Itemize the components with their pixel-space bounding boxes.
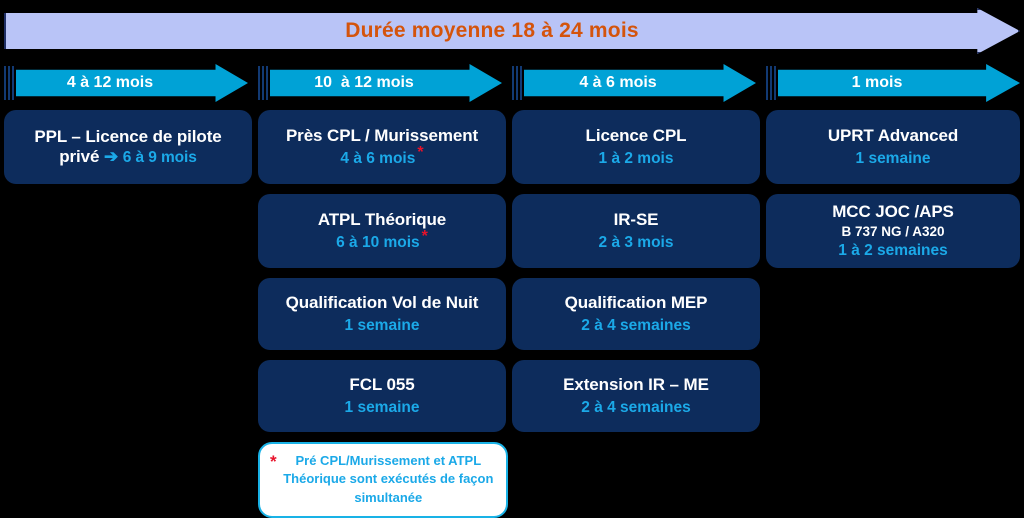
stage-column-3: Licence CPL 1 à 2 mois IR-SE 2 à 3 mois … <box>512 110 760 442</box>
course-title: Extension IR – ME <box>563 375 709 395</box>
course-title-line2: privé ➔ 6 à 9 mois <box>59 147 197 168</box>
course-title-line2-text: privé <box>59 147 99 166</box>
course-title: Qualification MEP <box>565 293 708 313</box>
course-title: Licence CPL <box>586 126 687 146</box>
course-duration-row: 4 à 6 mois* <box>340 150 423 169</box>
course-card-ir-se[interactable]: IR-SE 2 à 3 mois <box>512 194 760 268</box>
phase-label-1: 4 à 12 mois <box>16 64 204 102</box>
course-card-fcl-055[interactable]: FCL 055 1 semaine <box>258 360 506 432</box>
phase-arrow-4: 1 mois <box>766 64 1020 102</box>
phase-label-2: 10 à 12 mois <box>270 64 458 102</box>
course-duration: 6 à 10 mois <box>336 234 420 251</box>
course-card-vol-de-nuit[interactable]: Qualification Vol de Nuit 1 semaine <box>258 278 506 350</box>
stage-column-1: PPL – Licence de pilote privé ➔ 6 à 9 mo… <box>4 110 252 194</box>
course-duration-row: 6 à 10 mois* <box>336 234 428 253</box>
phase-tick-marks-icon <box>766 66 777 100</box>
footnote-asterisk-icon: * <box>422 228 428 245</box>
course-card-mcc-joc-aps[interactable]: MCC JOC /APS B 737 NG / A320 1 à 2 semai… <box>766 194 1020 268</box>
course-duration: 2 à 3 mois <box>599 234 674 253</box>
course-title: Près CPL / Murissement <box>286 126 478 146</box>
stage-column-2: Près CPL / Murissement 4 à 6 mois* ATPL … <box>258 110 506 518</box>
course-duration: 1 semaine <box>345 399 420 418</box>
course-card-qualification-mep[interactable]: Qualification MEP 2 à 4 semaines <box>512 278 760 350</box>
phase-tick-marks-icon <box>512 66 523 100</box>
course-title: MCC JOC /APS <box>832 202 954 222</box>
timeline-diagram: Durée moyenne 18 à 24 mois 4 à 12 mois 1… <box>0 0 1024 489</box>
course-title: ATPL Théorique <box>318 210 446 230</box>
course-duration: 2 à 4 semaines <box>581 399 690 418</box>
course-duration: 4 à 6 mois <box>340 150 415 167</box>
stage-column-4: UPRT Advanced 1 semaine MCC JOC /APS B 7… <box>766 110 1020 278</box>
footnote-text: Pré CPL/Murissement et ATPL Théorique so… <box>281 452 496 507</box>
course-duration: 1 semaine <box>345 317 420 336</box>
course-duration: 1 à 2 semaines <box>838 242 947 261</box>
phase-arrow-1: 4 à 12 mois <box>4 64 248 102</box>
course-title: IR-SE <box>614 210 659 230</box>
course-card-extension-ir-me[interactable]: Extension IR – ME 2 à 4 semaines <box>512 360 760 432</box>
course-card-licence-cpl[interactable]: Licence CPL 1 à 2 mois <box>512 110 760 184</box>
right-arrow-icon: ➔ <box>104 147 118 166</box>
asterisk-icon: * <box>270 453 277 470</box>
course-subtitle: B 737 NG / A320 <box>841 224 944 240</box>
phase-tick-marks-icon <box>4 66 15 100</box>
course-duration: 6 à 9 mois <box>123 149 197 166</box>
phase-arrow-2: 10 à 12 mois <box>258 64 502 102</box>
overall-duration-banner: Durée moyenne 18 à 24 mois <box>4 8 1020 54</box>
phase-arrow-row: 4 à 12 mois 10 à 12 mois 4 à 6 mois 1 mo… <box>0 64 1024 102</box>
course-title: FCL 055 <box>349 375 414 395</box>
footnote-asterisk-icon: * <box>417 144 423 161</box>
course-card-atpl-theorique[interactable]: ATPL Théorique 6 à 10 mois* <box>258 194 506 268</box>
course-title: Qualification Vol de Nuit <box>286 293 479 313</box>
course-card-uprt-advanced[interactable]: UPRT Advanced 1 semaine <box>766 110 1020 184</box>
course-title: PPL – Licence de pilote <box>34 127 221 147</box>
banner-label: Durée moyenne 18 à 24 mois <box>4 8 980 54</box>
phase-tick-marks-icon <box>258 66 269 100</box>
course-duration: 1 semaine <box>856 150 931 169</box>
course-duration: 2 à 4 semaines <box>581 317 690 336</box>
course-card-pre-cpl[interactable]: Près CPL / Murissement 4 à 6 mois* <box>258 110 506 184</box>
footnote-box: * Pré CPL/Murissement et ATPL Théorique … <box>258 442 508 518</box>
phase-arrow-3: 4 à 6 mois <box>512 64 756 102</box>
course-title: UPRT Advanced <box>828 126 958 146</box>
phase-label-3: 4 à 6 mois <box>524 64 712 102</box>
course-duration: 1 à 2 mois <box>599 150 674 169</box>
course-card-ppl[interactable]: PPL – Licence de pilote privé ➔ 6 à 9 mo… <box>4 110 252 184</box>
phase-label-4: 1 mois <box>778 64 976 102</box>
